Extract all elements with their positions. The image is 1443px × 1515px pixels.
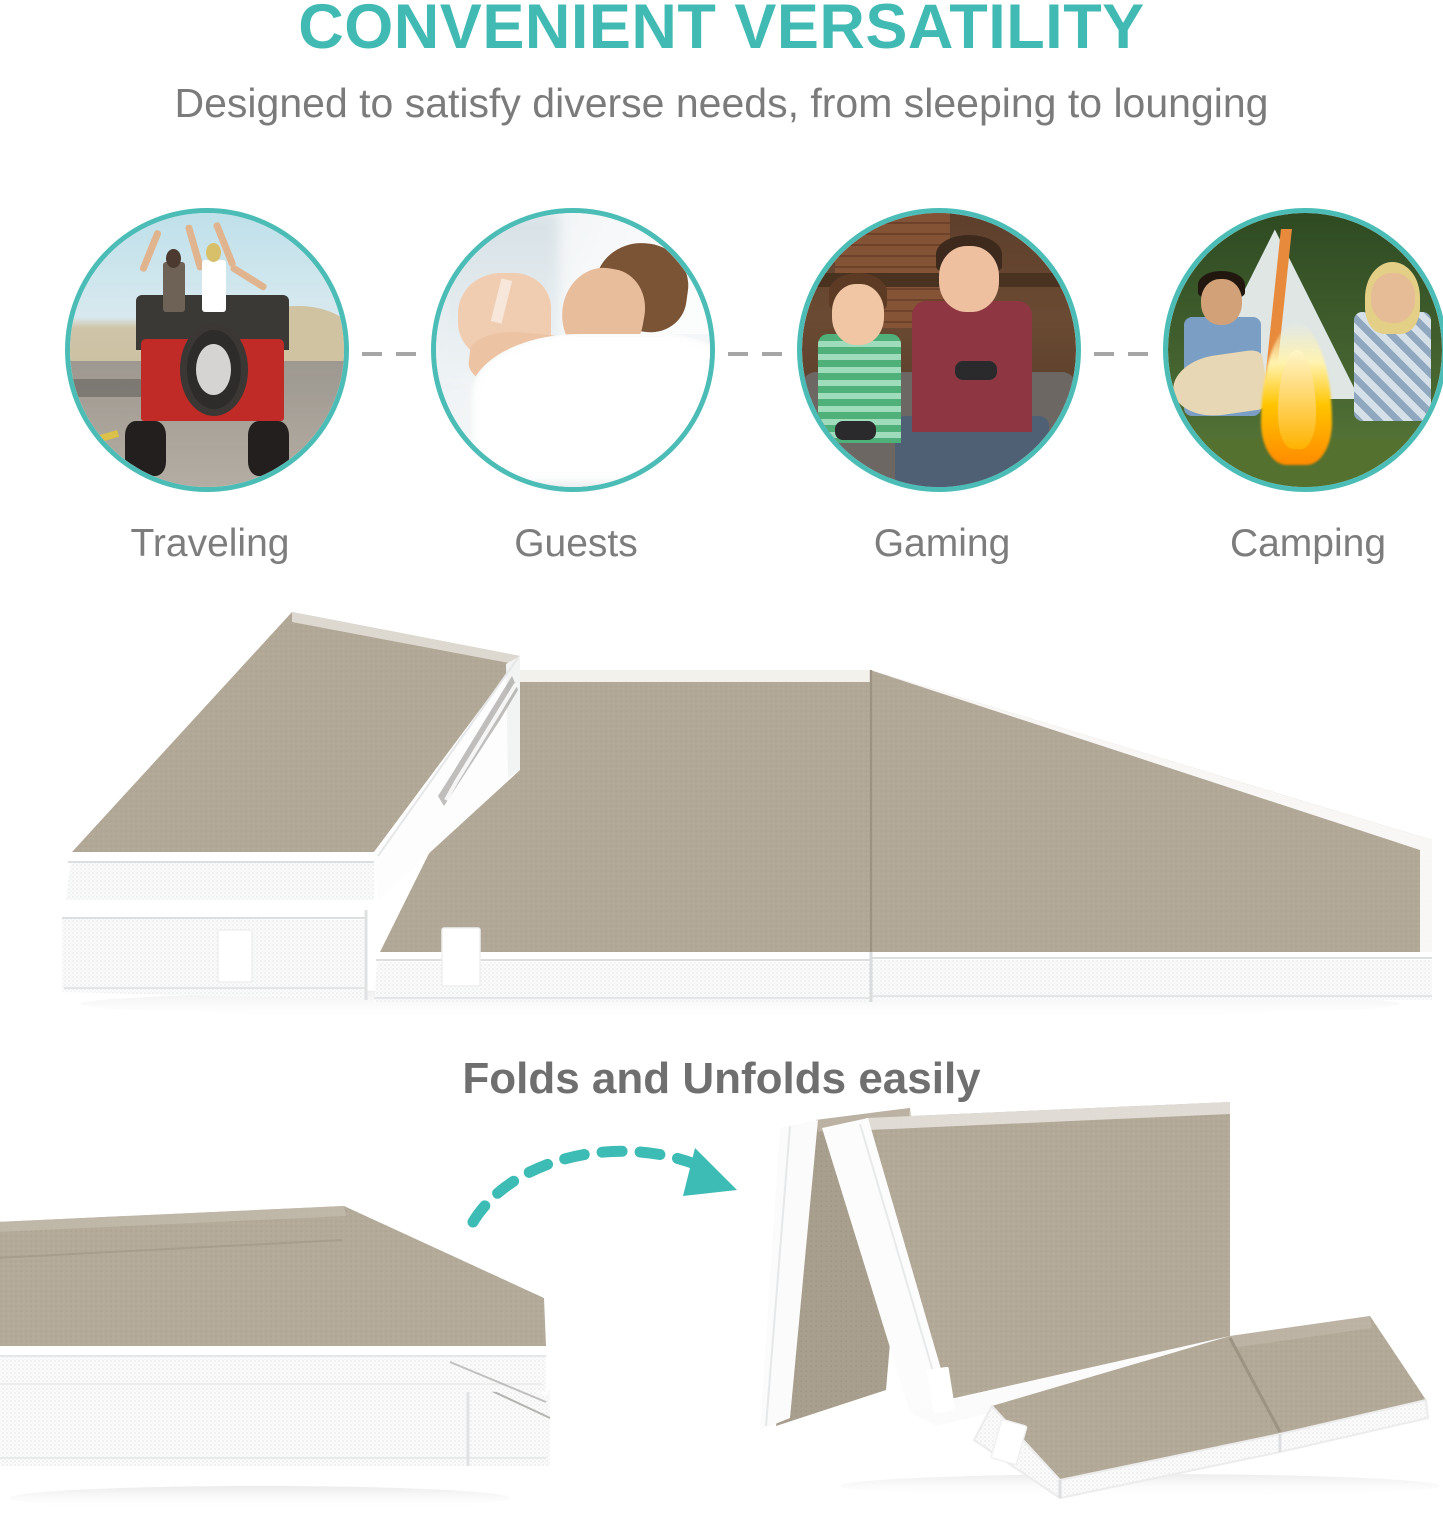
product-image-a-frame (760, 1100, 1440, 1500)
father-son-gaming-photo-icon (802, 213, 1076, 487)
product-image-folded-stack (0, 1180, 570, 1510)
page-title: CONVENIENT VERSATILITY (0, 0, 1443, 59)
usecase-image-traveling (65, 208, 349, 492)
fabric-tab-left (218, 930, 252, 982)
usecase-guests[interactable]: Guests (426, 200, 726, 600)
usecase-label-camping: Camping (1158, 522, 1443, 566)
usecase-camping[interactable]: Camping (1158, 200, 1443, 600)
panel-right (866, 670, 1436, 1000)
campfire-tent-photo-icon (1168, 213, 1442, 487)
usecase-label-guests: Guests (426, 522, 726, 566)
fabric-tab-center (442, 928, 480, 986)
product-image-unfolded (0, 600, 1443, 1040)
usecase-gaming[interactable]: Gaming (792, 200, 1092, 600)
usecase-label-gaming: Gaming (792, 522, 1092, 566)
usecase-traveling[interactable]: Traveling (60, 200, 360, 600)
folds-caption: Folds and Unfolds easily (0, 1054, 1443, 1104)
usecase-label-traveling: Traveling (60, 522, 360, 566)
sleeping-woman-photo-icon (436, 213, 710, 487)
header-block: CONVENIENT VERSATILITY Designed to satis… (0, 0, 1443, 165)
usecase-row: Traveling Guests (0, 200, 1443, 600)
usecase-image-gaming (797, 208, 1081, 492)
usecase-image-guests (431, 208, 715, 492)
jeep-road-photo-icon (70, 213, 344, 487)
page-subtitle: Designed to satisfy diverse needs, from … (0, 82, 1443, 125)
stack-top-slab (0, 1206, 546, 1406)
usecase-image-camping (1163, 208, 1443, 492)
